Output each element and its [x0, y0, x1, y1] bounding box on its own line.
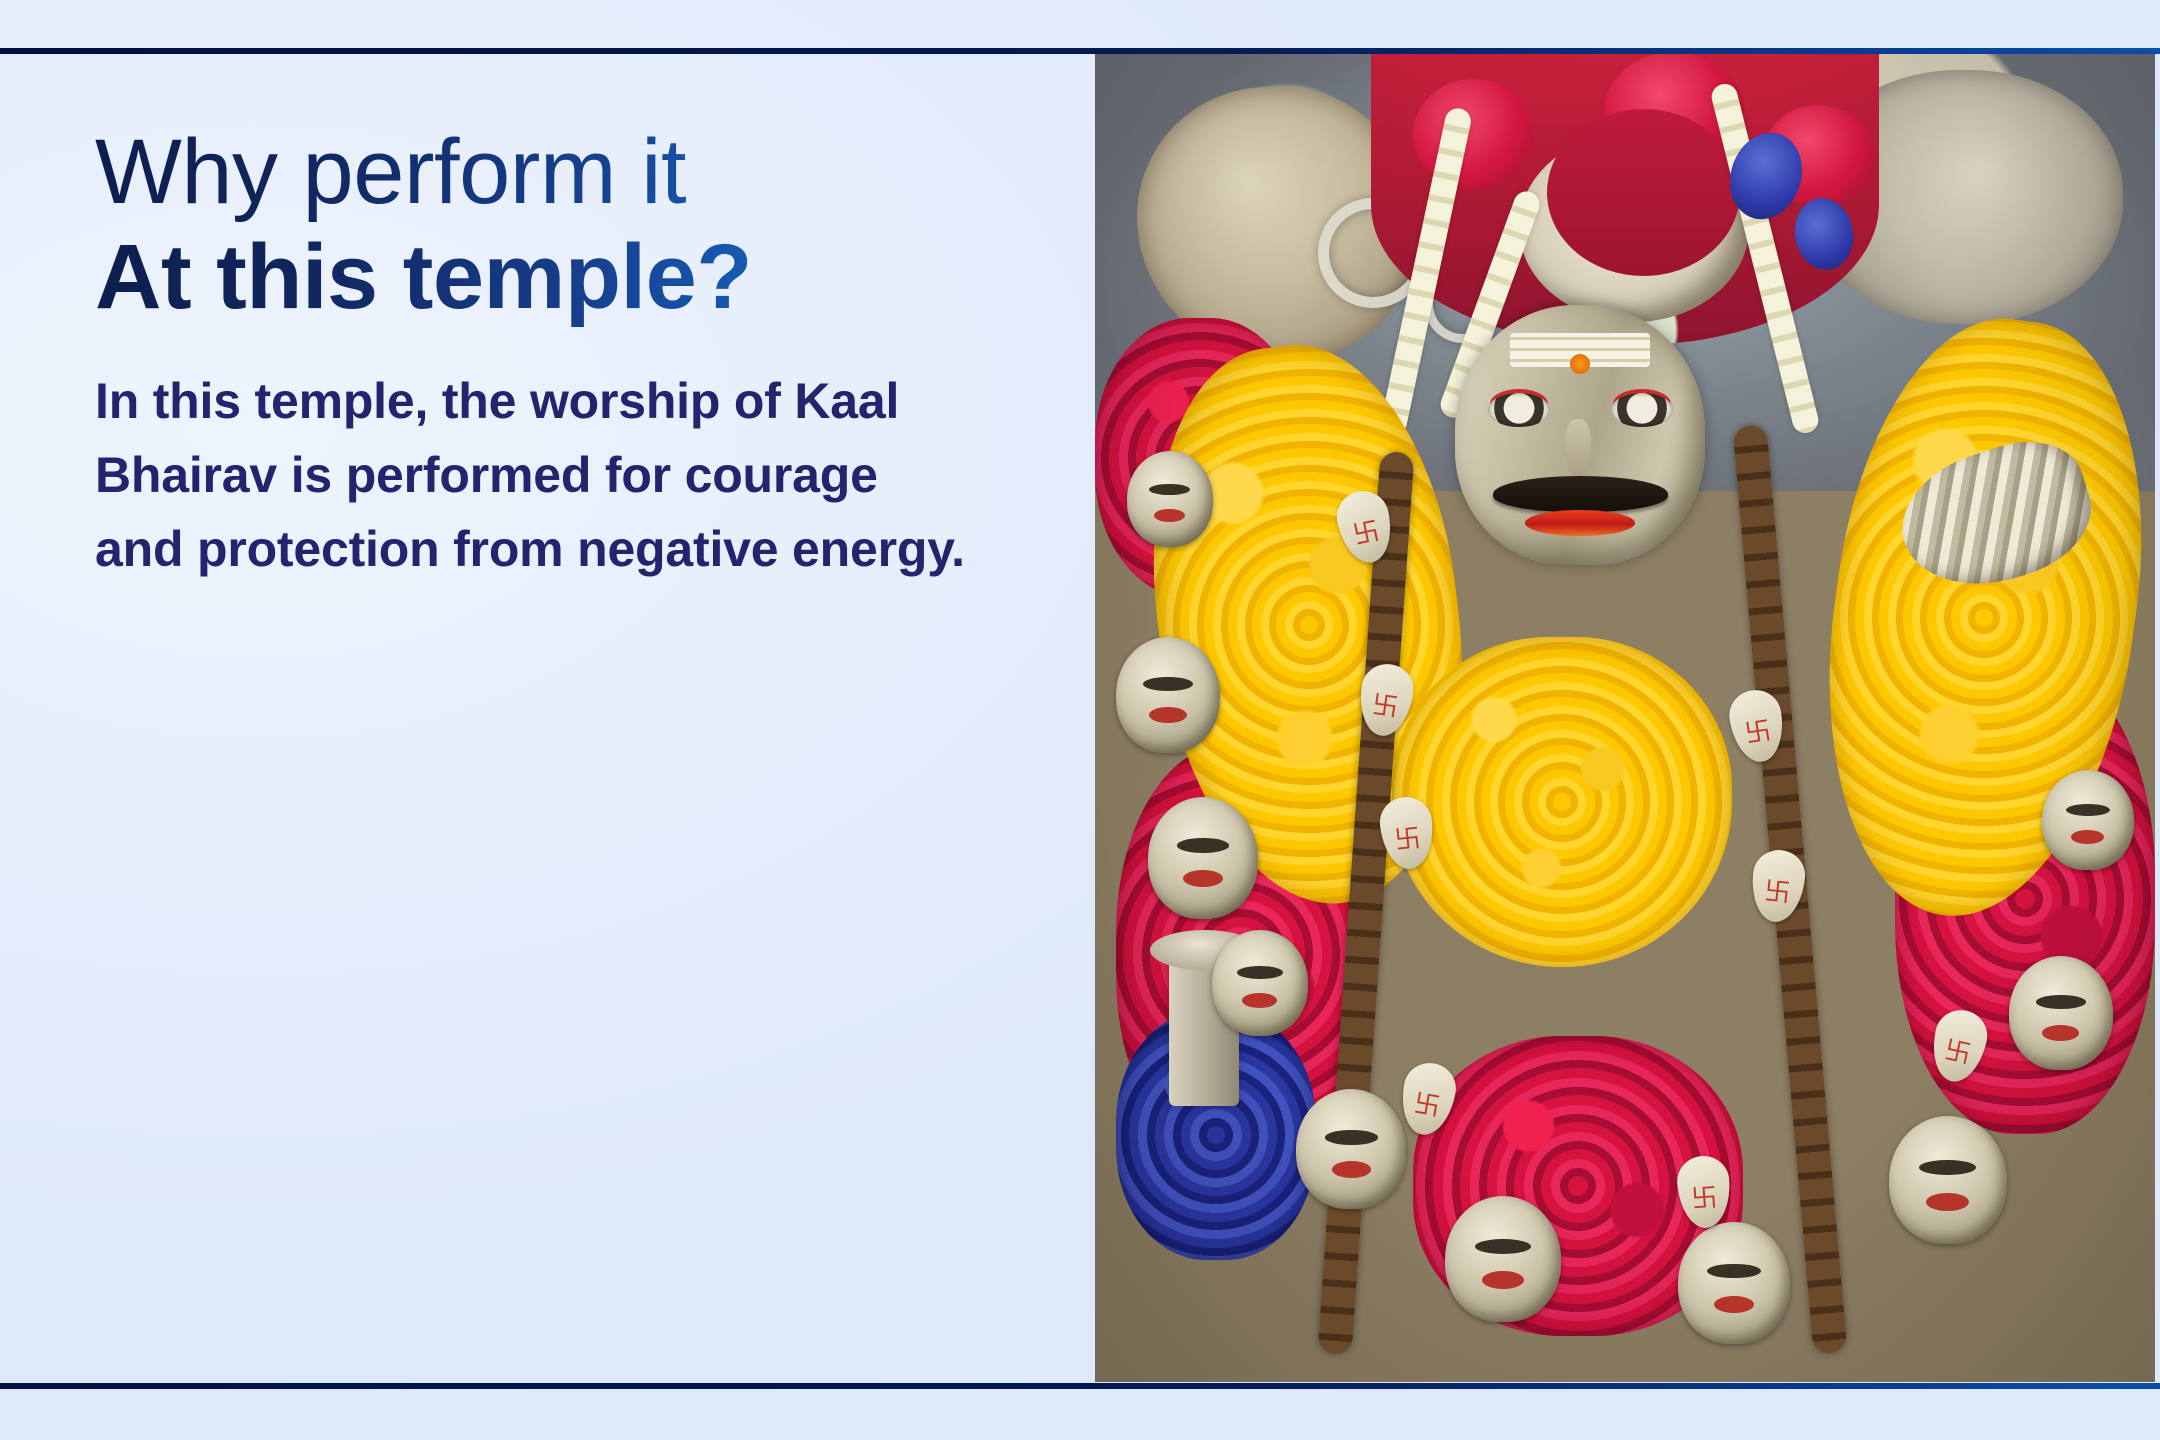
silver-face-pendant-2 — [1116, 637, 1220, 753]
silver-face-pendant-6 — [1445, 1196, 1561, 1322]
top-divider-rule — [0, 48, 2160, 54]
silver-face-pendant-9 — [2009, 956, 2113, 1070]
text-column: Why perform it At this temple? In this t… — [95, 120, 995, 586]
silver-face-pendant-4 — [1212, 930, 1308, 1036]
deity-nose — [1565, 419, 1591, 477]
deity-lips — [1525, 510, 1635, 536]
deity-photo-content — [1095, 52, 2155, 1382]
slide-canvas: Why perform it At this temple? In this t… — [0, 0, 2160, 1440]
headline-line-2: At this temple? — [95, 225, 995, 330]
silver-face-pendant-5 — [1296, 1089, 1406, 1209]
headline-line-1: Why perform it — [95, 120, 995, 225]
deity-face — [1455, 305, 1705, 565]
silver-face-pendant-1 — [1127, 451, 1213, 547]
silver-face-pendant-10 — [2042, 770, 2134, 870]
crown-crescent-ornament — [1519, 132, 1749, 322]
deity-photo — [1095, 52, 2155, 1382]
deity-moustache — [1493, 476, 1668, 512]
silver-face-pendant-8 — [1889, 1116, 2007, 1244]
body-paragraph: In this temple, the worship of Kaal Bhai… — [95, 364, 975, 586]
deity-eye-right — [1611, 393, 1673, 427]
marigold-garland-center — [1392, 637, 1732, 967]
deity-eye-left — [1488, 393, 1550, 427]
silver-face-pendant-3 — [1148, 797, 1258, 919]
silver-face-pendant-7 — [1678, 1222, 1790, 1344]
forehead-bindi — [1570, 354, 1590, 374]
bottom-divider-rule — [0, 1383, 2160, 1389]
headline-block: Why perform it At this temple? — [95, 120, 995, 330]
crown-rose-1 — [1413, 79, 1533, 189]
